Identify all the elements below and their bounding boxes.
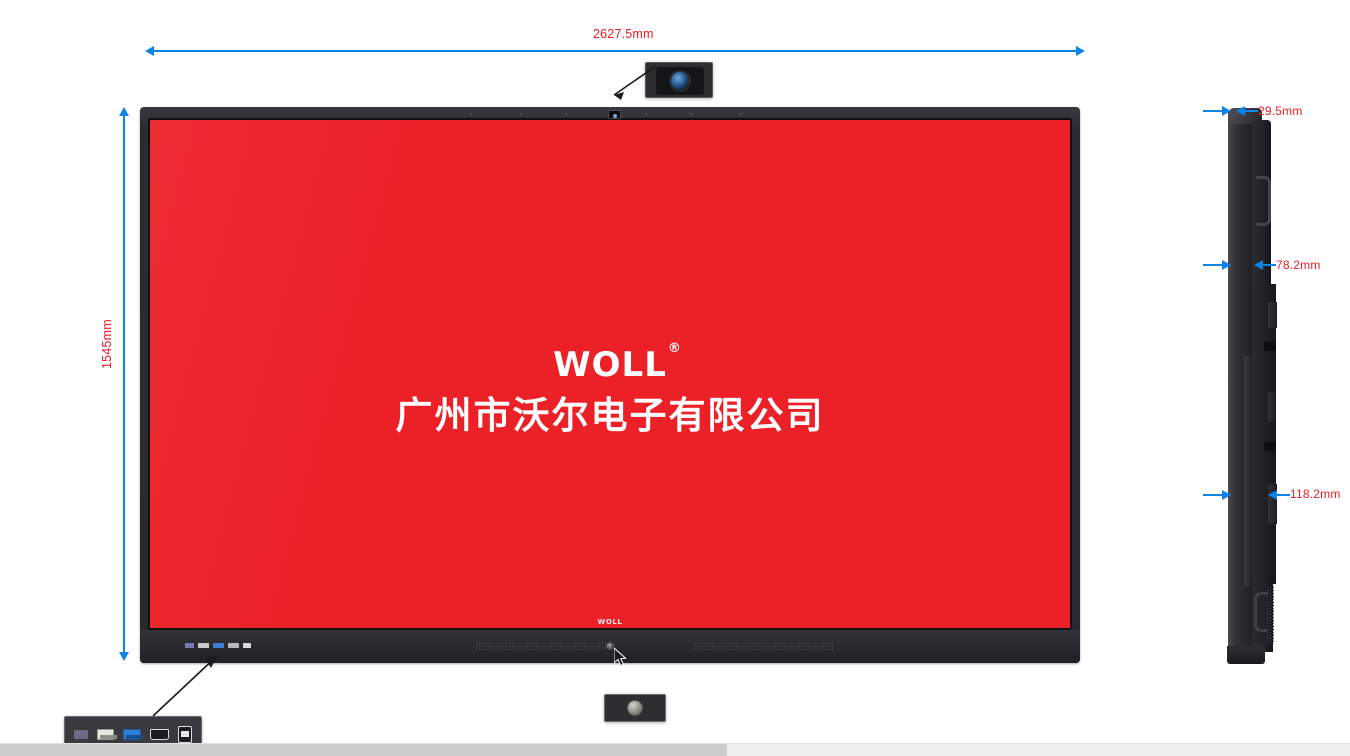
side-top-dimension-label: 29.5mm [1258,104,1303,118]
side-bottom-arrow-right [1222,490,1231,500]
camera-lens-detail-icon [671,72,689,90]
side-inner-panel [1244,356,1251,586]
side-notch-upper [1264,342,1276,351]
microphone-dot-icon [645,113,647,115]
ports-callout-leader-arrow [145,648,225,720]
side-top-arrow-right [1222,106,1231,116]
width-dimension-line [152,50,1080,52]
camera-lens-icon [613,114,617,118]
height-dimension-label: 1545mm [100,319,114,369]
speaker-grille-left [475,642,615,650]
screen-bezel: WOLL ® 广州市沃尔电子有限公司 [148,118,1072,630]
scrollbar-thumb[interactable] [0,744,727,756]
side-bottom-arrow-left [1268,490,1277,500]
registered-trademark-icon: ® [668,342,682,355]
side-handle-upper [1256,176,1271,226]
company-name-chinese: 广州市沃尔电子有限公司 [150,396,1070,437]
port-card-slot-icon [74,730,88,739]
microphone-dot-icon [690,113,692,115]
speaker-grille-right [693,642,833,650]
camera-module-body [656,67,704,95]
monitor-side-view [1224,106,1280,664]
side-mid-module [1252,284,1276,584]
height-arrow-down [119,652,129,661]
side-notch-lower [1264,442,1276,451]
microphone-dot-icon [740,113,742,115]
port-usb-b-icon [178,726,192,743]
width-arrow-right [1076,46,1085,56]
monitor-front-view: WOLL ® 广州市沃尔电子有限公司 WOLL [140,107,1080,663]
side-mid-dimension-label: 78.2mm [1276,258,1321,272]
brand-logo: WOLL ® [553,348,667,382]
side-base-foot [1227,646,1265,664]
camera-icon [608,110,621,119]
bezel-port-usb-b [243,643,251,648]
bottom-bezel: WOLL [140,630,1080,663]
side-mid-arrow-right [1222,260,1231,270]
side-step-upper [1268,302,1277,328]
power-button-detail-callout [604,694,666,722]
side-top-arrow-left [1236,106,1245,116]
power-button-detail-icon [627,700,643,716]
height-dimension-line [123,114,125,658]
bezel-brand-logo: WOLL [140,618,1080,626]
width-arrow-left [145,46,154,56]
bezel-port-hdmi [228,643,239,648]
side-step-middle [1268,392,1276,422]
diagram-canvas: 2627.5mm 1545mm WOLL ® 广州市沃尔电子有限公司 [0,0,1350,756]
screen-branding: WOLL ® 广州市沃尔电子有限公司 [150,348,1070,437]
microphone-dot-icon [565,113,567,115]
port-hdmi-icon [150,729,170,740]
camera-callout-leader-arrow [600,62,660,106]
microphone-dot-icon [520,113,522,115]
side-bottom-dimension-label: 118.2mm [1290,487,1341,501]
brand-logo-text: WOLL [553,345,667,385]
port-usb-3-icon [123,729,140,740]
height-arrow-up [119,107,129,116]
microphone-dot-icon [470,113,472,115]
mouse-cursor [614,648,628,668]
display-screen: WOLL ® 广州市沃尔电子有限公司 [150,120,1070,628]
width-dimension-label: 2627.5mm [593,27,654,41]
side-mid-arrow-left [1254,260,1263,270]
side-vent-grille [1266,586,1274,642]
horizontal-scrollbar[interactable] [0,743,1350,756]
port-usb-a-icon [97,729,114,740]
